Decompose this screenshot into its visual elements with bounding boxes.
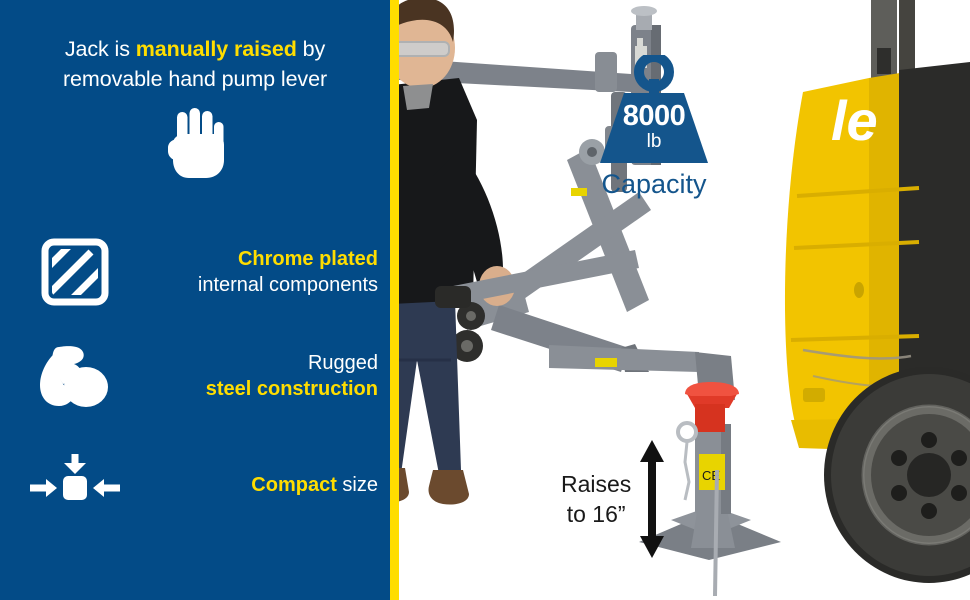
icon-container [20, 452, 130, 518]
worker-boot-left [399, 468, 409, 503]
headline-highlight: manually raised [136, 37, 297, 61]
feature-caption: Chrome plated internal components [130, 246, 388, 298]
handle-grip [435, 286, 471, 308]
raised-fist-icon [164, 108, 226, 180]
icon-container [164, 108, 226, 180]
raises-annotation: Raises to 16” [561, 440, 665, 558]
double-arrow-vertical-icon [639, 440, 665, 558]
headline: Jack is manually raised by removable han… [10, 34, 380, 94]
raises-line2: to 16” [567, 501, 626, 527]
headline-part2: by [297, 37, 325, 61]
accent-stripe [390, 0, 399, 600]
feature-caption: Rugged steel construction [130, 350, 388, 402]
weight-icon: 8000 lb [588, 55, 720, 167]
compact-arrows-icon [26, 452, 124, 518]
feature-caption-highlight: Compact [251, 474, 337, 496]
safety-glasses [399, 42, 449, 56]
feature-caption-highlight: steel construction [206, 378, 378, 400]
feature-caption-plain: Rugged [308, 352, 378, 374]
worker-boot-right [429, 470, 469, 505]
feature-caption: Compact size [130, 472, 388, 498]
icon-container [20, 236, 130, 308]
worker-jeans [399, 300, 461, 474]
capacity-label: Capacity [579, 169, 729, 199]
forklift-brand-text: le [831, 89, 878, 152]
feature-compact-size: Compact size [20, 452, 388, 518]
headline-part1: Jack is [65, 37, 136, 61]
capacity-value: 8000 [588, 100, 720, 133]
headline-line2: removable hand pump lever [63, 67, 327, 91]
feature-chrome-plated: Chrome plated internal components [20, 236, 388, 308]
feature-steel-construction: Rugged steel construction [20, 344, 388, 408]
product-photo: le [399, 0, 970, 600]
feature-caption-plain: internal components [198, 274, 378, 296]
capacity-unit: lb [588, 131, 720, 153]
feature-caption-plain: size [337, 474, 378, 496]
icon-container [20, 344, 130, 408]
raises-text: Raises to 16” [561, 469, 639, 529]
feature-caption-highlight: Chrome plated [238, 248, 378, 270]
capacity-badge: 8000 lb Capacity [579, 55, 729, 199]
raises-line1: Raises [561, 471, 631, 497]
flexed-bicep-icon [33, 344, 117, 408]
chrome-hatch-square-icon [39, 236, 111, 308]
product-feature-banner: Jack is manually raised by removable han… [0, 0, 970, 600]
feature-hand-pump [0, 108, 390, 180]
